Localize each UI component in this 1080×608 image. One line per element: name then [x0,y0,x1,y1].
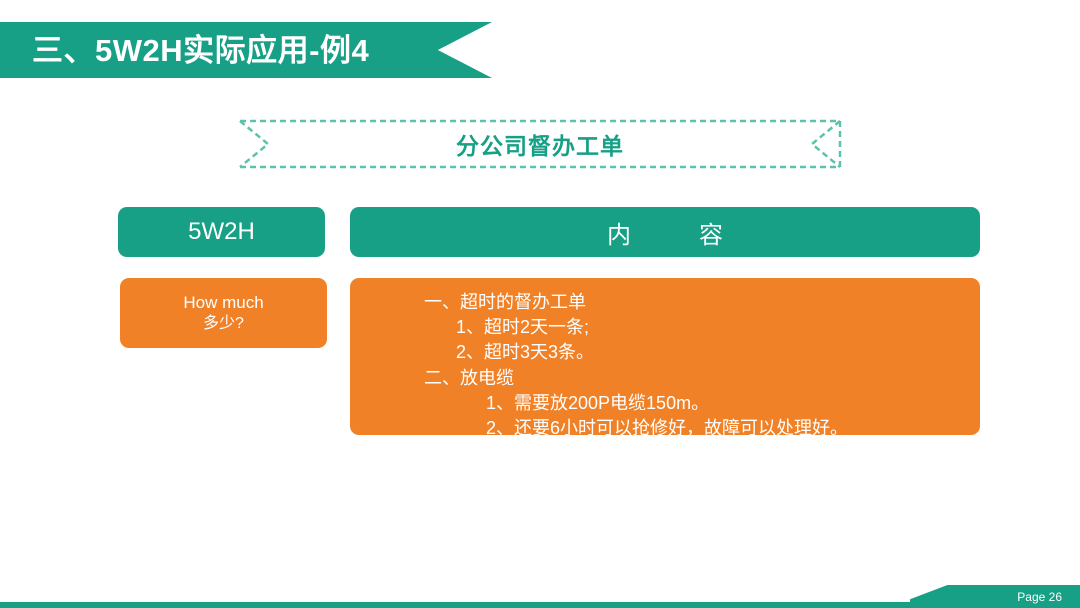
table-row-label-how-much: How much 多少? [120,278,327,348]
content-line: 1、需要放200P电缆150m。 [350,391,709,416]
table-header-5w2h-label: 5W2H [188,218,255,246]
content-line: 二、放电缆 [350,366,514,391]
slide-canvas: 三、5W2H实际应用-例4 分公司督办工单 5W2H 内 容 How much … [0,0,1080,608]
content-line: 1、超时2天一条; [350,315,589,340]
page-number-label: Page 26 [1017,591,1062,603]
five-w-two-h-table: 5W2H 内 容 How much 多少? 一、超时的督办工单 1、超时2天一条… [118,207,980,435]
table-row-content-how-much: 一、超时的督办工单 1、超时2天一条; 2、超时3天3条。 二、放电缆 1、需要… [350,278,980,435]
subtitle-text: 分公司督办工单 [238,118,842,170]
content-line: 2、还要6小时可以抢修好，故障可以处理好。 [350,416,848,441]
slide-title-banner: 三、5W2H实际应用-例4 [0,22,492,78]
how-much-english-label: How much [183,292,263,314]
subtitle-ribbon: 分公司督办工单 [238,118,842,170]
content-line: 一、超时的督办工单 [350,290,586,315]
page-number-tab: Page 26 [910,585,1080,608]
page-title: 三、5W2H实际应用-例4 [32,35,369,66]
how-much-chinese-label: 多少? [203,314,244,334]
table-header-content: 内 容 [350,207,980,257]
table-header-5w2h: 5W2H [118,207,325,257]
content-line: 2、超时3天3条。 [350,340,594,365]
table-header-content-label: 内 容 [585,215,745,250]
